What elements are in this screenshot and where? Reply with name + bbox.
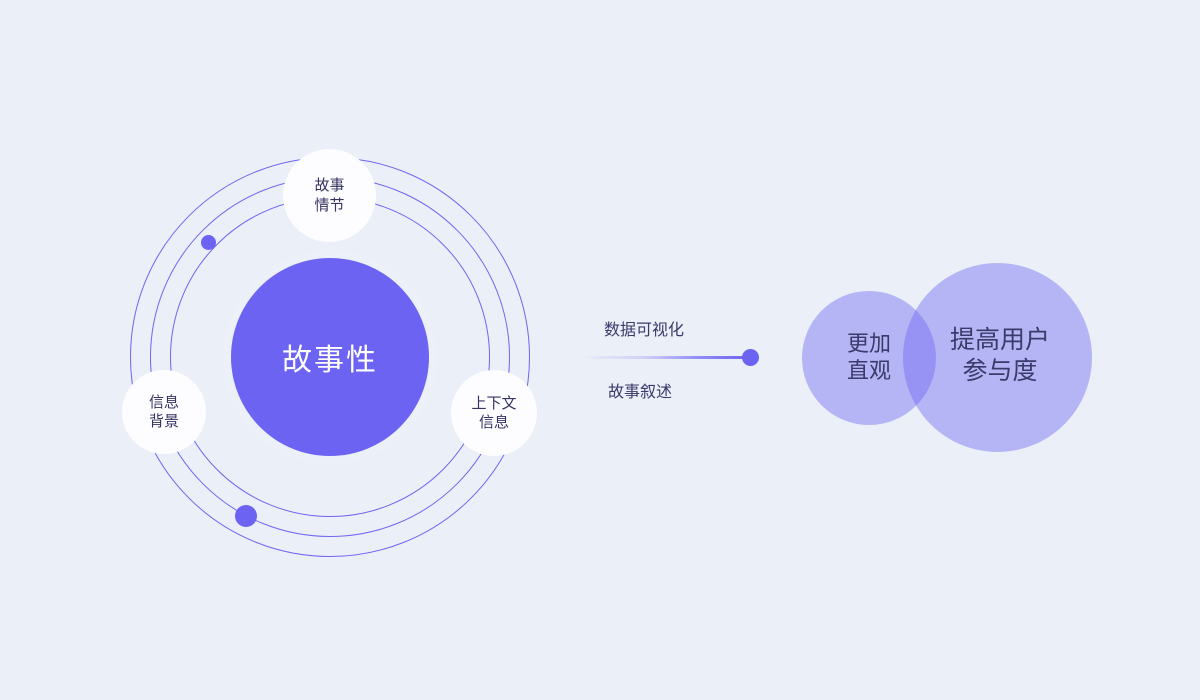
satellite-bubble-plot[interactable]: 故事 情节 (283, 149, 376, 242)
satellite-label-line1: 故事 (314, 176, 344, 195)
connector-arrow (580, 353, 760, 363)
connector-line (580, 356, 748, 359)
venn-diagram: 更加 直观 提高用户 参与度 (795, 255, 1110, 460)
orbit-marker-dot-upper (201, 235, 216, 250)
venn-label-right-line1: 提高用户 (925, 325, 1075, 356)
orbit-marker-dot-lower (235, 505, 257, 527)
connector-endpoint-dot (742, 349, 759, 366)
diagram-canvas: 故事性 故事 情节 信息 背景 上下文 信息 数据可视化 故事叙述 更加 直观 … (0, 0, 1200, 700)
venn-label-left: 更加 直观 (819, 331, 919, 385)
venn-label-left-line2: 直观 (819, 358, 919, 385)
venn-label-right-line2: 参与度 (925, 356, 1075, 387)
satellite-label-line2: 信息 (479, 413, 509, 432)
orbital-diagram: 故事性 故事 情节 信息 背景 上下文 信息 (130, 157, 530, 557)
venn-label-right: 提高用户 参与度 (925, 325, 1075, 386)
core-label: 故事性 (282, 335, 378, 379)
connector-label-bottom: 故事叙述 (608, 378, 672, 402)
venn-label-left-line1: 更加 (819, 331, 919, 358)
satellite-bubble-background[interactable]: 信息 背景 (122, 370, 206, 454)
satellite-label-line2: 情节 (314, 196, 344, 215)
satellite-label-line1: 信息 (149, 393, 179, 412)
satellite-bubble-context[interactable]: 上下文 信息 (451, 370, 537, 456)
satellite-label-line1: 上下文 (471, 394, 516, 413)
connector-label-top: 数据可视化 (604, 316, 684, 340)
satellite-label-line2: 背景 (149, 412, 179, 431)
core-circle[interactable]: 故事性 (231, 258, 429, 456)
